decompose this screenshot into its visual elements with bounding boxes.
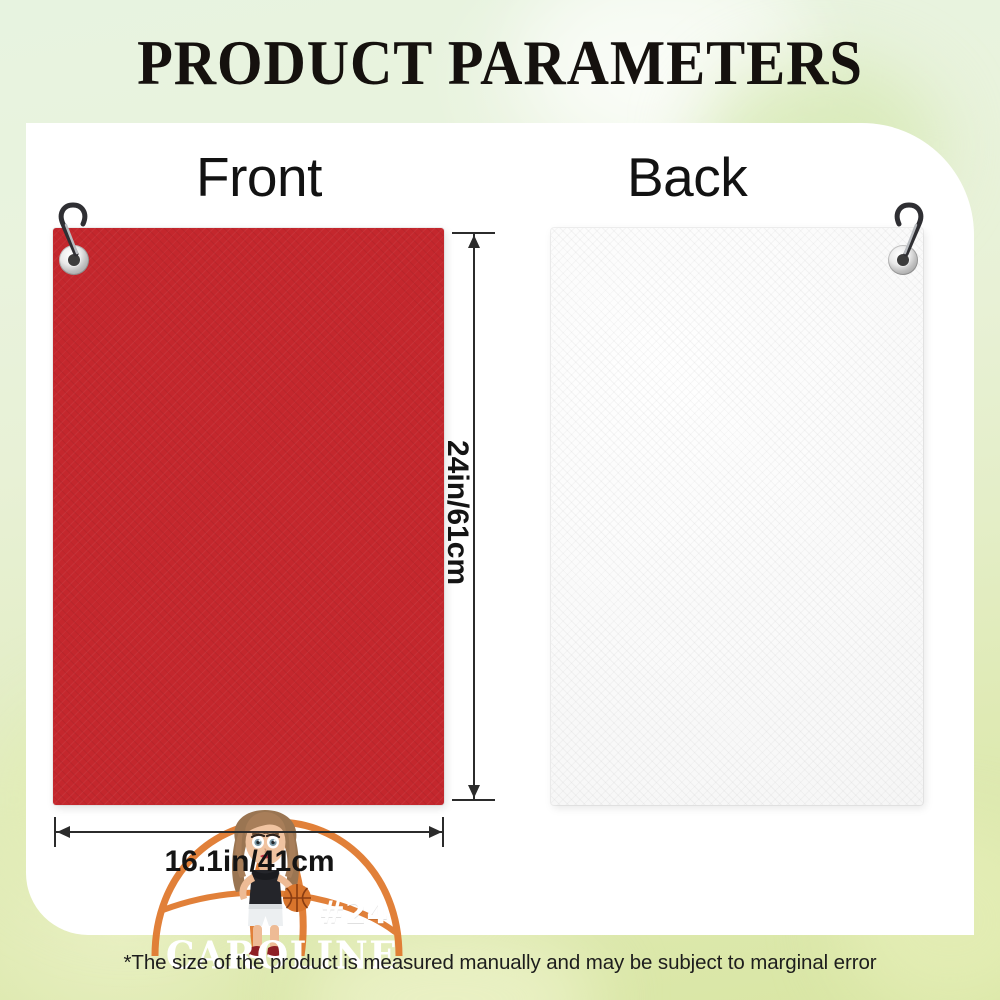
height-dimension-label: 24in/61cm	[440, 440, 474, 585]
back-carabiner-clip-icon	[882, 200, 932, 262]
front-towel-image: #24 CAROLINE	[53, 228, 444, 805]
front-panel-label: Front	[196, 145, 322, 209]
background: PRODUCT PARAMETERS Front Back	[0, 0, 1000, 1000]
front-carabiner-clip-icon	[50, 200, 100, 262]
width-dimension-label: 16.1in/41cm	[55, 845, 444, 879]
measurement-disclaimer: *The size of the product is measured man…	[0, 951, 1000, 975]
back-panel-label: Back	[627, 145, 747, 209]
page-title: PRODUCT PARAMETERS	[35, 27, 965, 100]
back-towel-image	[551, 228, 923, 805]
player-number-print: #24	[319, 898, 388, 929]
